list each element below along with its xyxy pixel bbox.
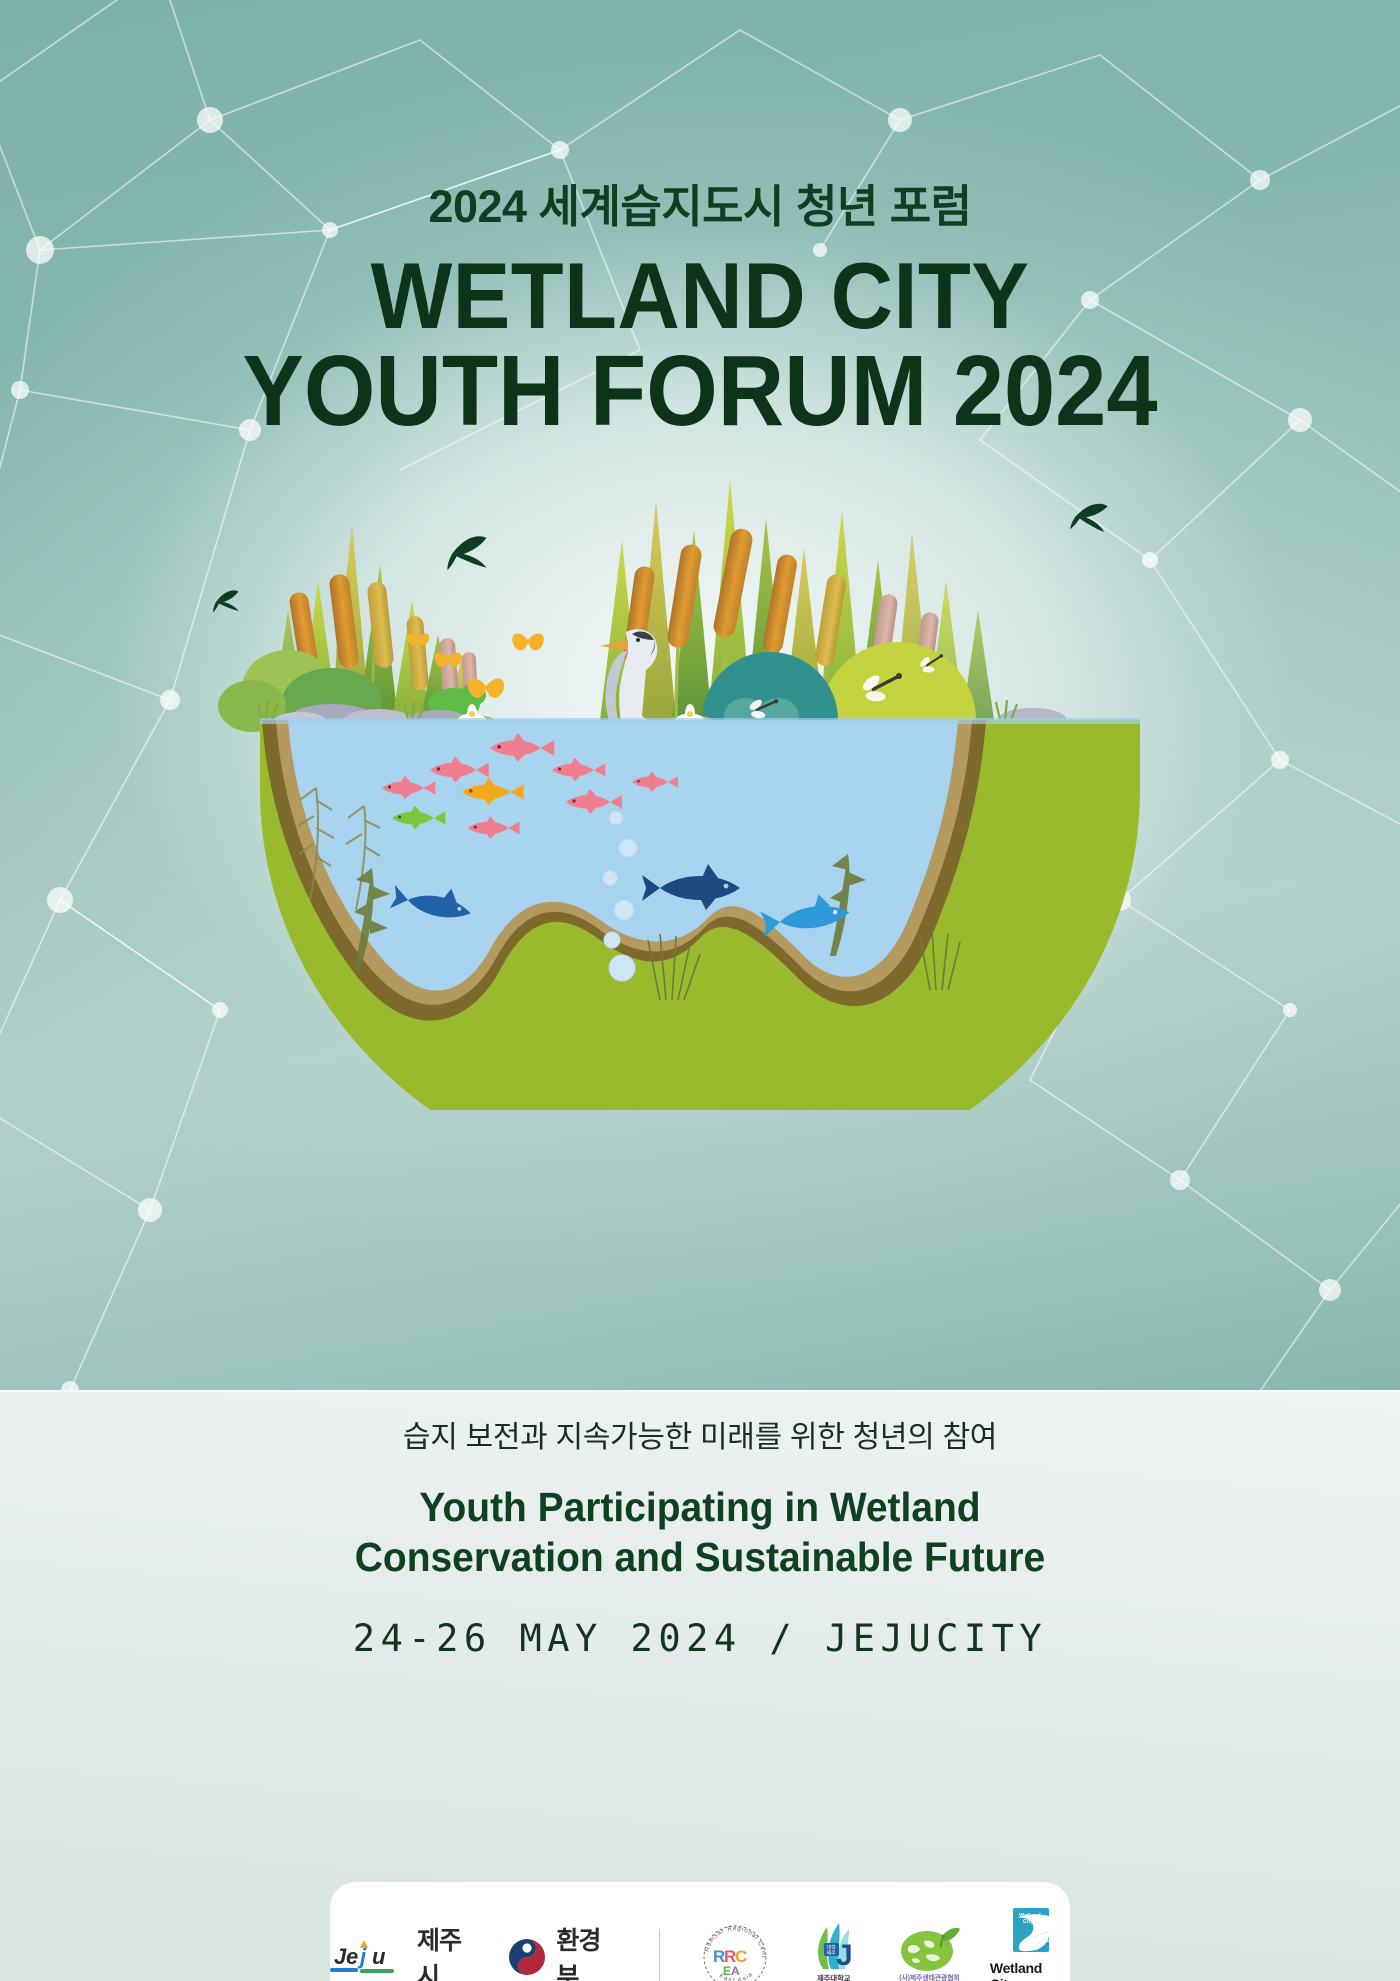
english-title-line1: WETLAND CITY <box>56 249 1344 342</box>
logo-jeju-city: J e j u 제주시 <box>330 1921 481 1981</box>
jnu-korean: 제주대학교 <box>817 1973 851 1981</box>
english-title-line2: YOUTH FORUM 2024 <box>56 342 1344 441</box>
wetland-city-icon: Wetland City <box>1005 1908 1055 1960</box>
logo-ministry-of-environment: 환경부 <box>507 1921 621 1981</box>
jnu-icon: J 대학 제주 <box>807 1919 861 1973</box>
jeju-logo-icon: J e j u <box>330 1938 408 1976</box>
taegeuk-icon <box>507 1937 547 1977</box>
wc-badge-line2: City <box>1023 1919 1034 1925</box>
svg-text:u: u <box>372 1944 386 1969</box>
wetland-illustration <box>0 470 1400 1110</box>
svg-text:e: e <box>346 1944 358 1969</box>
subtitle-korean: 습지 보전과 지속가능한 미래를 위한 청년의 참여 <box>0 1412 1400 1456</box>
svg-text:A: A <box>731 1964 740 1978</box>
subtitle-english: Youth Participating in Wetland Conservat… <box>35 1482 1365 1583</box>
poster-root: 2024 세계습지도시 청년 포럼 WETLAND CITY YOUTH FOR… <box>0 0 1400 1981</box>
ecotour-korean: (사)제주생태관광협회 <box>899 1973 959 1981</box>
ecotour-icon <box>896 1921 962 1973</box>
logo-wetland-city-jeju: Wetland City Wetland City Jeju <box>990 1908 1070 1981</box>
svg-text:E: E <box>723 1964 731 1978</box>
title-block: 2024 세계습지도시 청년 포럼 WETLAND CITY YOUTH FOR… <box>0 0 1400 441</box>
logo-jeju-national-university: J 대학 제주 제주대학교 JEJU NATIONAL UNIVERSITY <box>798 1919 869 1981</box>
subtitle-english-line2: Conservation and Sustainable Future <box>35 1532 1365 1582</box>
korean-title: 2024 세계습지도시 청년 포럼 <box>0 170 1400 235</box>
logo-jeju-ecotour-association: (사)제주생태관광협회 JEJU ECOTOUR ASSOCIATION <box>895 1921 964 1981</box>
logo-rrc-east-asia: Ramsar Regional Center East Asia R R C E… <box>698 1920 772 1981</box>
organizer-logos: J e j u 제주시 <box>330 1908 1070 1981</box>
date-location: 24-26 MAY 2024 / JEJUCITY <box>0 1617 1400 1660</box>
wetland-city-title: Wetland City <box>990 1960 1070 1981</box>
rrc-ea-icon: Ramsar Regional Center East Asia R R C E… <box>698 1920 772 1981</box>
subtitle-block: 습지 보전과 지속가능한 미래를 위한 청년의 참여 Youth Partici… <box>0 1412 1400 1660</box>
logo-divider <box>659 1929 660 1981</box>
english-title: WETLAND CITY YOUTH FORUM 2024 <box>56 249 1344 441</box>
moe-korean: 환경부 <box>556 1921 621 1981</box>
subtitle-english-line1: Youth Participating in Wetland <box>35 1482 1365 1532</box>
svg-text:제주: 제주 <box>826 1949 836 1956</box>
footer-logo-card: J e j u 제주시 <box>330 1882 1070 1981</box>
jeju-city-korean: 제주시 <box>417 1921 481 1981</box>
